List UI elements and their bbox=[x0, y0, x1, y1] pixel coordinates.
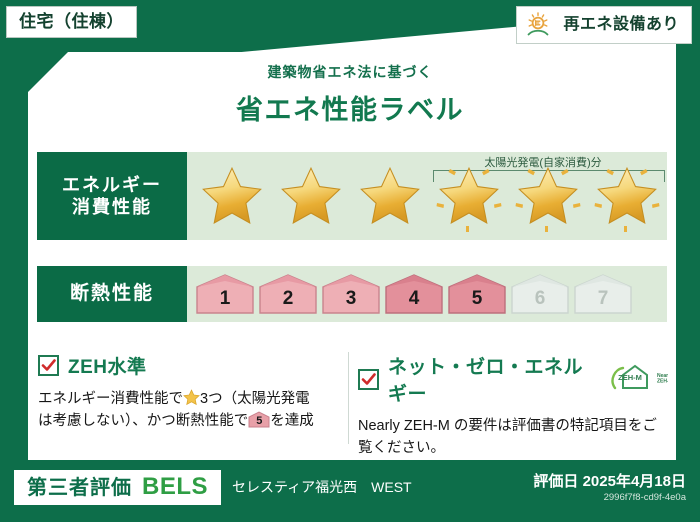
net-zero-energy-section: ネット・ゼロ・エネルギー ZEH-M Nearly ZEH-M Nearly Z… bbox=[358, 352, 668, 460]
zeh-desc-part3: を達成 bbox=[270, 413, 314, 429]
insulation-row-label: 断熱性能 bbox=[37, 266, 187, 322]
category-badge: 住宅（住棟） bbox=[6, 6, 137, 38]
energy-row-body: 太陽光発電(自家消費)分 bbox=[187, 152, 667, 240]
insulation-level-number: 5 bbox=[472, 288, 483, 310]
third-party-label: 第三者評価 bbox=[27, 478, 132, 498]
insulation-level-2: 2 bbox=[258, 273, 318, 315]
energy-performance-row: エネルギー 消費性能 太陽光発電(自家消費)分 bbox=[37, 152, 667, 240]
insulation-level-number: 3 bbox=[346, 288, 357, 310]
insulation-level-5: 5 bbox=[447, 273, 507, 315]
page-title: 省エネ性能ラベル bbox=[0, 88, 700, 127]
star-4 bbox=[430, 156, 509, 236]
svg-text:ZEH-M: ZEH-M bbox=[657, 378, 668, 384]
renewable-badge-label: 再エネ設備あり bbox=[563, 17, 679, 33]
insulation-level-4: 4 bbox=[384, 273, 444, 315]
energy-performance-label: 住宅（住棟） 再エネ設備あり 建築物省エネ法に基づく bbox=[0, 0, 700, 522]
insulation-level-number: 4 bbox=[409, 288, 420, 310]
net-zero-header: ネット・ゼロ・エネルギー ZEH-M Nearly ZEH-M bbox=[358, 352, 668, 406]
zeh-standard-title: ZEH水準 bbox=[68, 352, 147, 379]
sparkle-icon bbox=[509, 156, 588, 236]
zeh-standard-description: エネルギー消費性能で3つ（太陽光発電は考慮しない）、かつ断熱性能で5を達成 bbox=[38, 388, 338, 433]
energy-row-label: エネルギー 消費性能 bbox=[37, 152, 187, 240]
zeh-column-divider bbox=[348, 352, 349, 444]
insulation-row-body: 1234567 bbox=[187, 266, 667, 322]
insulation-level-scale: 1234567 bbox=[187, 273, 633, 315]
evaluation-id: 2996f7f8-cd9f-4e0a bbox=[604, 492, 686, 503]
solar-sun-icon bbox=[525, 12, 555, 38]
star-rating bbox=[187, 156, 667, 236]
energy-label-line2: 消費性能 bbox=[72, 196, 152, 219]
bels-badge: 第三者評価 BELS bbox=[14, 470, 221, 505]
zeh-standard-section: ZEH水準 エネルギー消費性能で3つ（太陽光発電は考慮しない）、かつ断熱性能で5… bbox=[38, 352, 338, 433]
insulation-performance-row: 断熱性能 1234567 bbox=[37, 266, 667, 322]
svg-text:ZEH-M: ZEH-M bbox=[618, 373, 642, 382]
heading-subtitle: 建築物省エネ法に基づく bbox=[0, 62, 700, 82]
insulation-level-6: 6 bbox=[510, 273, 570, 315]
insulation-level-number: 7 bbox=[598, 288, 609, 310]
zeh-standard-header: ZEH水準 bbox=[38, 352, 338, 379]
inline-star-icon bbox=[183, 389, 200, 406]
net-zero-title: ネット・ゼロ・エネルギー bbox=[388, 352, 595, 406]
zeh-m-logo-icon: ZEH-M Nearly ZEH-M bbox=[604, 364, 668, 395]
sparkle-icon bbox=[430, 156, 509, 236]
insulation-level-7: 7 bbox=[573, 273, 633, 315]
star-3 bbox=[351, 156, 430, 236]
star-2 bbox=[272, 156, 351, 236]
net-zero-description: Nearly ZEH-M の要件は評価書の特記項目をご覧ください。 bbox=[358, 415, 668, 460]
star-5 bbox=[509, 156, 588, 236]
insulation-level-number: 6 bbox=[535, 288, 546, 310]
building-name: セレスティア福光西 WEST bbox=[232, 477, 412, 497]
inline-house-badge: 5 bbox=[248, 411, 270, 428]
bels-label: BELS bbox=[142, 475, 208, 499]
evaluation-date: 評価日 2025年4月18日 bbox=[533, 470, 686, 491]
insulation-level-number: 2 bbox=[283, 288, 294, 310]
star-6 bbox=[588, 156, 667, 236]
footer-bar: 第三者評価 BELS セレスティア福光西 WEST 評価日 2025年4月18日… bbox=[0, 460, 700, 522]
checkmark-icon bbox=[38, 355, 59, 376]
energy-label-line1: エネルギー bbox=[62, 174, 162, 197]
renewable-equipment-badge: 再エネ設備あり bbox=[516, 6, 692, 44]
heading-block: 建築物省エネ法に基づく 省エネ性能ラベル bbox=[0, 62, 700, 127]
inline-house-number: 5 bbox=[248, 413, 270, 430]
sparkle-icon bbox=[588, 156, 667, 236]
zeh-desc-part1: エネルギー消費性能で bbox=[38, 391, 183, 407]
star-1 bbox=[193, 156, 272, 236]
zeh-desc-stars: 3つ（太陽光発電 bbox=[200, 391, 310, 407]
zeh-desc-part2: は考慮しない）、かつ断熱性能で bbox=[38, 413, 248, 429]
checkmark-icon bbox=[358, 369, 379, 390]
insulation-level-number: 1 bbox=[220, 288, 231, 310]
insulation-level-1: 1 bbox=[195, 273, 255, 315]
insulation-level-3: 3 bbox=[321, 273, 381, 315]
